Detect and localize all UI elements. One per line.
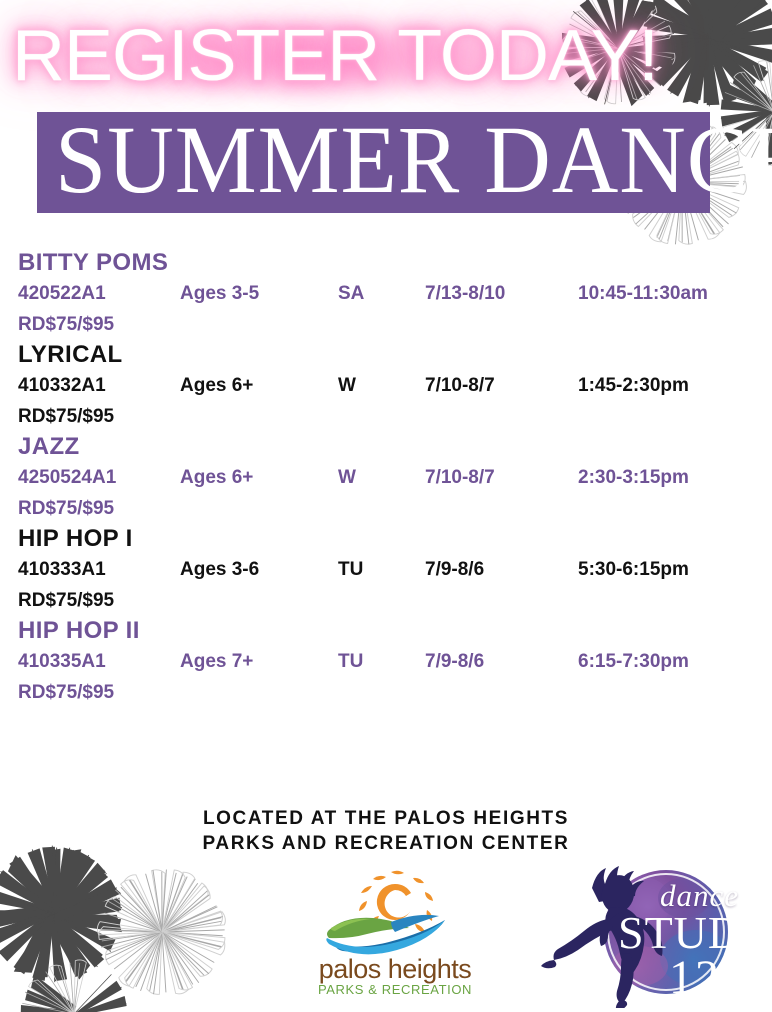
page-title-register-today: REGISTER TODAY! [12,14,658,98]
class-code: 410333A1 [18,554,106,586]
class-block-bitty-poms: BITTY POMS 420522A1 Ages 3-5 SA 7/13-8/1… [0,248,772,340]
class-title: LYRICAL [0,340,772,370]
class-title: HIP HOP II [0,616,772,646]
palos-heights-logo: palos heights PARKS & RECREATION [295,868,495,996]
class-row: 4250524A1 Ages 6+ W 7/10-8/7 2:30-3:15pm [0,462,772,494]
class-dates: 7/10-8/7 [425,370,495,402]
class-dates: 7/9-8/6 [425,554,484,586]
location-line-1: LOCATED AT THE PALOS HEIGHTS [0,806,772,831]
class-block-jazz: JAZZ 4250524A1 Ages 6+ W 7/10-8/7 2:30-3… [0,432,772,524]
class-row: 420522A1 Ages 3-5 SA 7/13-8/10 10:45-11:… [0,278,772,310]
class-code: 4250524A1 [18,462,116,494]
class-fee: RD$75/$95 [0,586,772,616]
class-title: JAZZ [0,432,772,462]
headline-container: REGISTER TODAY! [12,14,632,102]
class-fee: RD$75/$95 [0,678,772,708]
class-row: 410332A1 Ages 6+ W 7/10-8/7 1:45-2:30pm [0,370,772,402]
class-day: W [338,462,356,494]
class-block-hip-hop-ii: HIP HOP II 410335A1 Ages 7+ TU 7/9-8/6 6… [0,616,772,708]
studio-number: 127 [669,950,747,1005]
class-dates: 7/13-8/10 [425,278,505,310]
class-title: HIP HOP I [0,524,772,554]
class-row: 410333A1 Ages 3-6 TU 7/9-8/6 5:30-6:15pm [0,554,772,586]
class-time: 2:30-3:15pm [578,462,689,494]
class-ages: Ages 3-6 [180,554,259,586]
class-ages: Ages 7+ [180,646,253,678]
class-time: 10:45-11:30am [578,278,708,310]
location-text: LOCATED AT THE PALOS HEIGHTS PARKS AND R… [0,806,772,856]
class-fee: RD$75/$95 [0,402,772,432]
class-day: TU [338,646,363,678]
class-fee: RD$75/$95 [0,310,772,340]
class-time: 1:45-2:30pm [578,370,689,402]
class-listing: BITTY POMS 420522A1 Ages 3-5 SA 7/13-8/1… [0,248,772,708]
class-time: 6:15-7:30pm [578,646,689,678]
floral-decoration-bottom-left [0,836,254,1012]
class-code: 410332A1 [18,370,106,402]
class-ages: Ages 6+ [180,370,253,402]
class-day: W [338,370,356,402]
palos-heights-mark-icon [295,868,495,958]
class-ages: Ages 6+ [180,462,253,494]
class-ages: Ages 3-5 [180,278,259,310]
dance-studio-127-logo: dance STUDIO 127 [534,858,772,1008]
class-code: 410335A1 [18,646,106,678]
class-fee: RD$75/$95 [0,494,772,524]
class-dates: 7/10-8/7 [425,462,495,494]
palos-heights-wordmark: palos heights [295,954,495,984]
summer-dance-banner: SUMMER DANCE [37,112,710,213]
class-row: 410335A1 Ages 7+ TU 7/9-8/6 6:15-7:30pm [0,646,772,678]
palos-heights-subwordmark: PARKS & RECREATION [295,982,495,997]
poster-canvas: REGISTER TODAY! SUMMER DANCE BITTY POMS … [0,0,772,1012]
class-block-lyrical: LYRICAL 410332A1 Ages 6+ W 7/10-8/7 1:45… [0,340,772,432]
banner-title: SUMMER DANCE [55,108,669,212]
class-code: 420522A1 [18,278,106,310]
class-title: BITTY POMS [0,248,772,278]
class-dates: 7/9-8/6 [425,646,484,678]
class-day: SA [338,278,364,310]
class-block-hip-hop-i: HIP HOP I 410333A1 Ages 3-6 TU 7/9-8/6 5… [0,524,772,616]
class-time: 5:30-6:15pm [578,554,689,586]
class-day: TU [338,554,363,586]
location-line-2: PARKS AND RECREATION CENTER [0,831,772,856]
